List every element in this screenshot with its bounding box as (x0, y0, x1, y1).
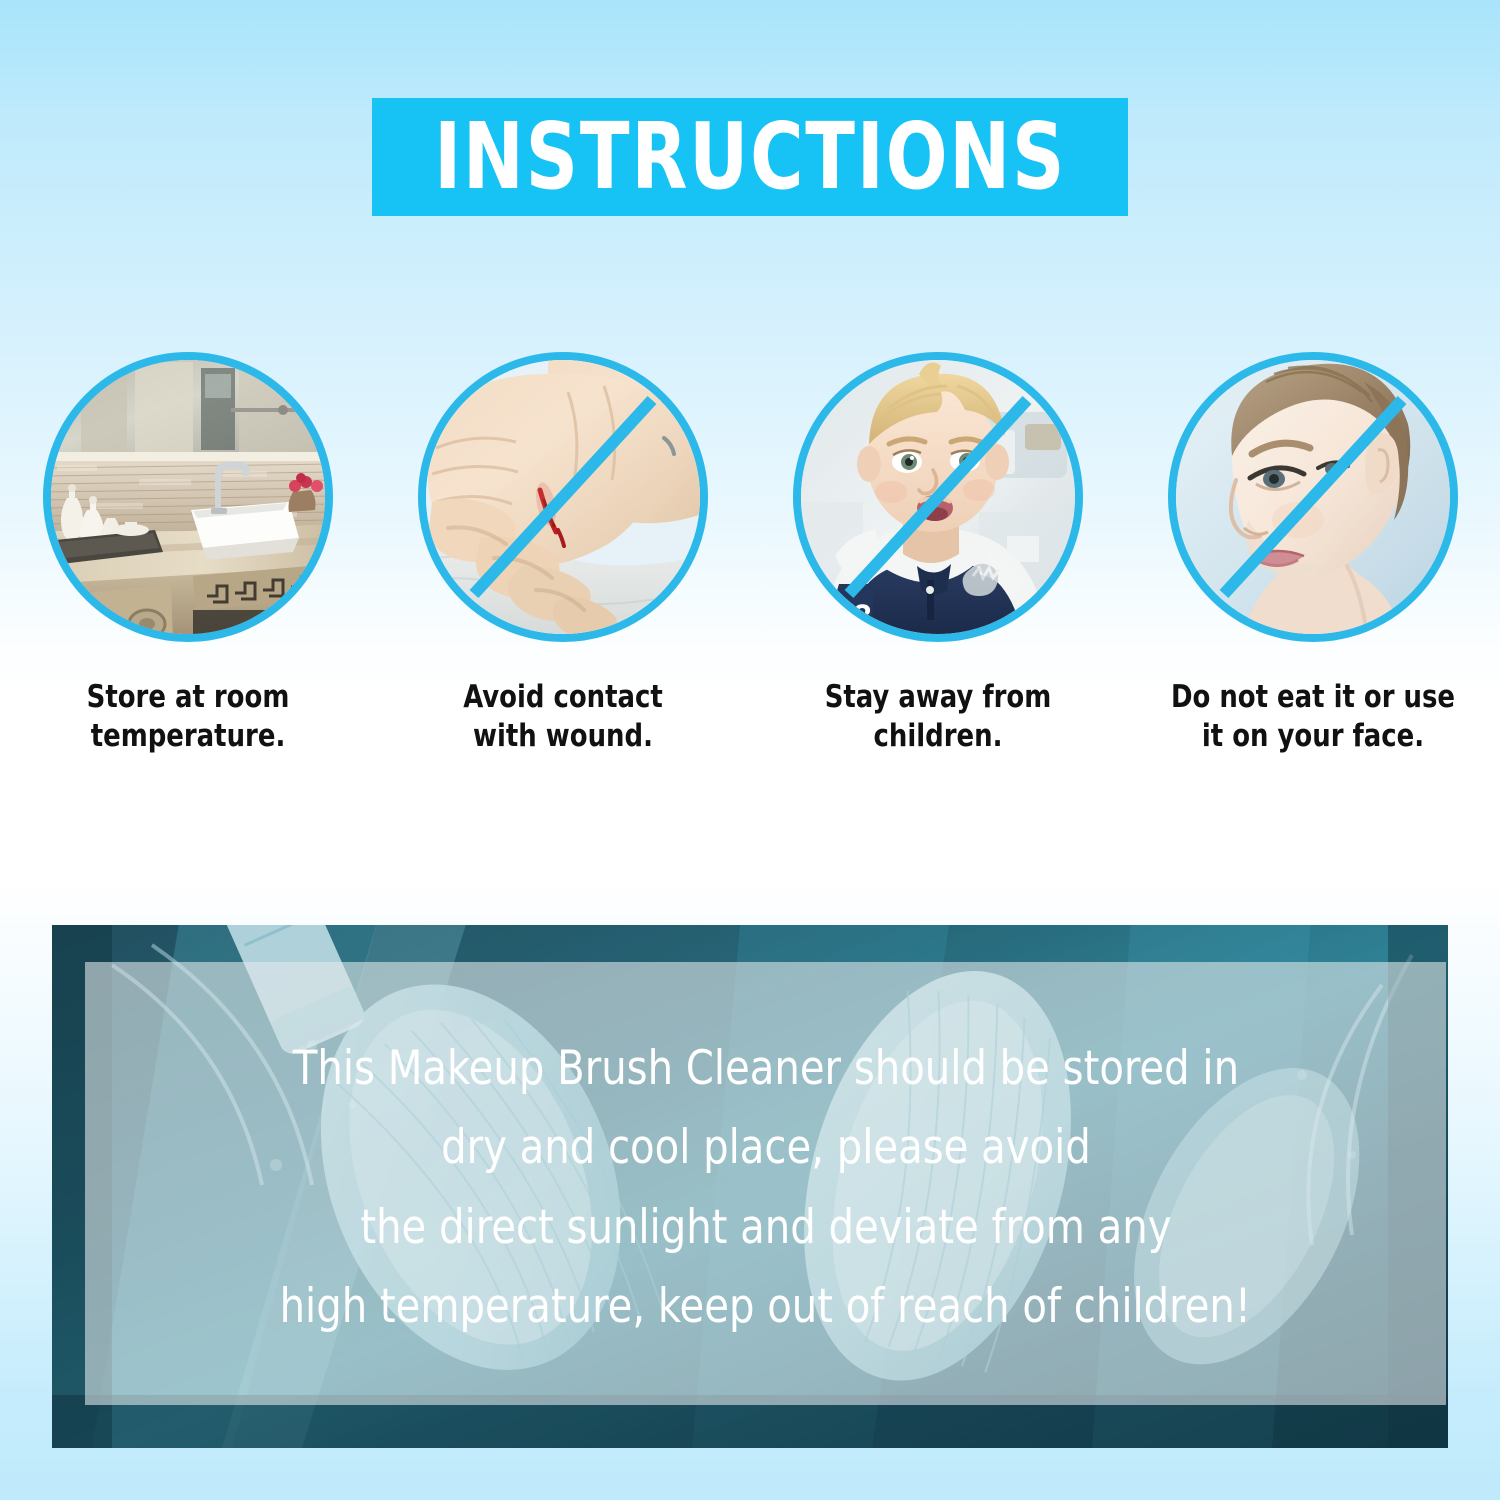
toddler-illustration: 3 (793, 352, 1083, 642)
instruction-caption: Stay away from children. (784, 678, 1091, 756)
caption-line-1: Stay away from (784, 678, 1091, 717)
caption-line-1: Do not eat it or use (1159, 678, 1466, 717)
wounded-hand-photo (418, 352, 708, 642)
instruction-item-store-temperature: Store at room temperature. (0, 352, 375, 756)
notice-line-4: high temperature, keep out of reach of c… (280, 1282, 1251, 1331)
storage-notice-panel: This Makeup Brush Cleaner should be stor… (52, 925, 1448, 1448)
caption-line-2: children. (784, 717, 1091, 756)
instructions-banner: INSTRUCTIONS (372, 98, 1128, 216)
caption-line-1: Store at room (34, 678, 341, 717)
bathroom-vanity-icon (43, 352, 333, 642)
instruction-icon-row: Store at room temperature. (0, 352, 1500, 756)
instruction-item-keep-from-children: 3 (750, 352, 1125, 756)
page-title: INSTRUCTIONS (434, 111, 1066, 203)
instruction-icon-wrap: 3 (793, 352, 1083, 642)
instruction-icon-wrap (43, 352, 333, 642)
wounded-hand-icon (418, 352, 708, 642)
bathroom-scene-illustration (43, 352, 333, 642)
bathroom-vanity-photo (43, 352, 333, 642)
instruction-icon-wrap (1168, 352, 1458, 642)
woman-face-illustration (1168, 352, 1458, 642)
caption-line-2: with wound. (409, 717, 716, 756)
caption-line-2: temperature. (34, 717, 341, 756)
notice-line-2: dry and cool place, please avoid (441, 1123, 1091, 1172)
caption-line-1: Avoid contact (409, 678, 716, 717)
notice-line-3: the direct sunlight and deviate from any (360, 1203, 1171, 1252)
notice-text-block: This Makeup Brush Cleaner should be stor… (85, 962, 1446, 1405)
instruction-item-no-face-no-eat: Do not eat it or use it on your face. (1125, 352, 1500, 756)
instruction-caption: Do not eat it or use it on your face. (1159, 678, 1466, 756)
woman-face-photo (1168, 352, 1458, 642)
instruction-icon-wrap (418, 352, 708, 642)
toddler-photo: 3 (793, 352, 1083, 642)
notice-line-1: This Makeup Brush Cleaner should be stor… (292, 1044, 1238, 1093)
instruction-caption: Avoid contact with wound. (409, 678, 716, 756)
instruction-caption: Store at room temperature. (34, 678, 341, 756)
caption-line-2: it on your face. (1159, 717, 1466, 756)
svg-text:3: 3 (853, 598, 872, 636)
toddler-icon: 3 (793, 352, 1083, 642)
instructions-infographic: INSTRUCTIONS (0, 0, 1500, 1500)
woman-face-icon (1168, 352, 1458, 642)
hand-wound-illustration (418, 352, 708, 642)
instruction-item-avoid-wound: Avoid contact with wound. (375, 352, 750, 756)
